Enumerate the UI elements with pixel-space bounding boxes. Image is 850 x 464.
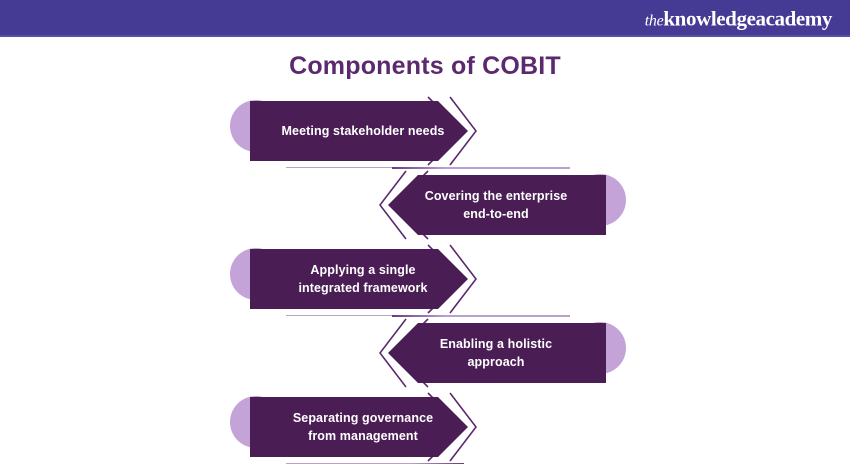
brand-logo-prefix: the	[645, 12, 664, 29]
page-title: Components of COBIT	[0, 52, 850, 81]
diagram-item-5[interactable]: Separating governance from management	[228, 392, 478, 462]
item-label: Meeting stakeholder needs	[278, 101, 448, 161]
diagram-item-3[interactable]: Applying a single integrated framework	[228, 244, 478, 314]
item-label: Covering the enterprise end-to-end	[410, 175, 582, 235]
item-label: Separating governance from management	[278, 397, 448, 457]
item-label: Applying a single integrated framework	[278, 249, 448, 309]
diagram-item-1[interactable]: Meeting stakeholder needs	[228, 96, 478, 166]
brand-logo[interactable]: theknowledgeacademy	[645, 8, 832, 29]
cobit-components-diagram: Meeting stakeholder needs Covering the e…	[0, 96, 850, 446]
item-label: Enabling a holistic approach	[410, 323, 582, 383]
item-accent-rule	[392, 167, 570, 169]
brand-logo-name: knowledgeacademy	[663, 6, 832, 30]
diagram-item-4[interactable]: Enabling a holistic approach	[378, 318, 628, 388]
diagram-item-2[interactable]: Covering the enterprise end-to-end	[378, 170, 628, 240]
header-band: theknowledgeacademy	[0, 0, 850, 37]
item-accent-rule	[392, 315, 570, 317]
